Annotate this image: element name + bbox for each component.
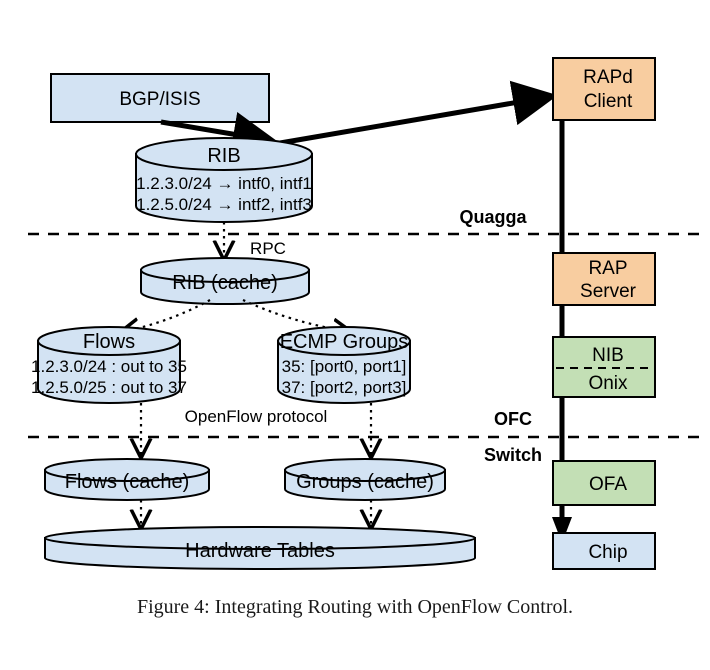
node-rap-server-line-2: Server (580, 281, 637, 302)
node-chip-label: Chip (588, 542, 627, 563)
node-rapd-client-line-2: Client (584, 91, 633, 112)
node-ecmp-groups[interactable]: ECMP Groups 35: [port0, port1] 37: [port… (278, 327, 410, 403)
node-rib-title: RIB (207, 145, 240, 167)
node-rib-cache-title: RIB (cache) (172, 272, 278, 294)
diagram-canvas: Quagga OFC Switch BGP/ISIS RIB 1.2.3.0/2… (0, 0, 710, 670)
node-bgp-isis-label: BGP/ISIS (119, 89, 200, 110)
node-flows-cache[interactable]: Flows (cache) (45, 459, 209, 500)
node-flows-row-1: 1.2.5.0/25 : out to 37 (31, 378, 187, 397)
node-nib-onix-line-2: Onix (588, 373, 628, 394)
zone-label-switch: Switch (484, 445, 542, 465)
node-ofa-label: OFA (589, 474, 627, 495)
edge-rib-to-rapd-client (280, 97, 548, 143)
edge-rpc-label: RPC (250, 239, 286, 258)
node-flows[interactable]: Flows 1.2.3.0/24 : out to 35 1.2.5.0/25 … (31, 327, 187, 403)
figure-caption: Figure 4: Integrating Routing with OpenF… (0, 596, 710, 619)
node-rapd-client-line-1: RAPd (583, 67, 633, 88)
node-rap-server-line-1: RAP (588, 258, 627, 279)
node-flows-cache-title: Flows (cache) (65, 471, 189, 493)
node-ecmp-groups-title: ECMP Groups (280, 331, 409, 353)
node-groups-cache[interactable]: Groups (cache) (285, 459, 445, 500)
node-flows-row-0: 1.2.3.0/24 : out to 35 (31, 357, 187, 376)
node-flows-title: Flows (83, 331, 135, 353)
node-groups-cache-title: Groups (cache) (296, 471, 434, 493)
zone-label-ofc: OFC (494, 409, 532, 429)
node-rib-row-1: 1.2.5.0/24 → intf2, intf3 (136, 195, 312, 214)
node-rib-row-0: 1.2.3.0/24 → intf0, intf1 (136, 174, 312, 193)
zone-label-quagga: Quagga (459, 207, 527, 227)
node-hardware-tables-title: Hardware Tables (185, 540, 335, 562)
node-nib-onix-line-1: NIB (592, 345, 624, 366)
node-rib[interactable]: RIB 1.2.3.0/24 → intf0, intf1 1.2.5.0/24… (136, 138, 312, 222)
node-ecmp-groups-row-0: 35: [port0, port1] (282, 357, 407, 376)
edge-openflow-label: OpenFlow protocol (185, 407, 328, 426)
node-rib-cache[interactable]: RIB (cache) (141, 258, 309, 304)
figure-root: Quagga OFC Switch BGP/ISIS RIB 1.2.3.0/2… (0, 0, 710, 670)
node-hardware-tables[interactable]: Hardware Tables (45, 527, 475, 569)
node-ecmp-groups-row-1: 37: [port2, port3] (282, 378, 407, 397)
